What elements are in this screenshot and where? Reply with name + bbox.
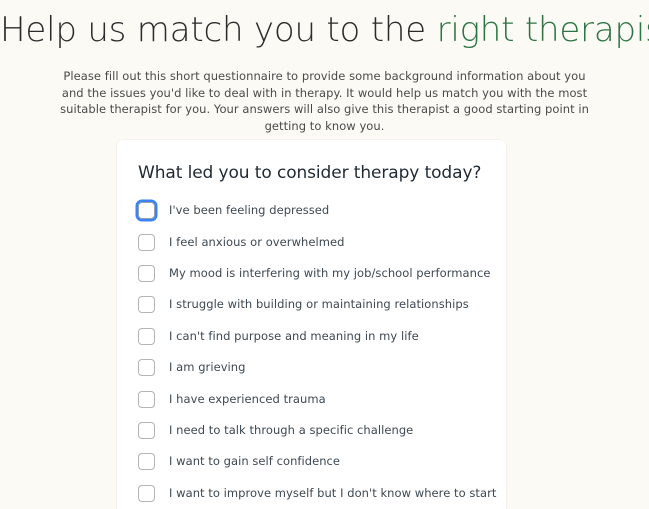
option-label: I want to gain self confidence [169, 454, 340, 469]
checkbox-icon[interactable] [138, 296, 155, 313]
option-label: I need to talk through a specific challe… [169, 423, 413, 438]
option-row[interactable]: My mood is interfering with my job/schoo… [117, 258, 506, 289]
option-row[interactable]: I want to improve myself but I don't kno… [117, 478, 506, 509]
option-label: I have experienced trauma [169, 392, 326, 407]
option-label: I feel anxious or overwhelmed [169, 235, 344, 250]
questionnaire-card: What led you to consider therapy today? … [117, 140, 506, 509]
option-row[interactable]: I can't find purpose and meaning in my l… [117, 321, 506, 352]
checkbox-icon[interactable] [138, 422, 155, 439]
checkbox-icon[interactable] [138, 359, 155, 376]
option-label: I can't find purpose and meaning in my l… [169, 329, 419, 344]
checkbox-icon[interactable] [138, 453, 155, 470]
checkbox-icon[interactable] [138, 265, 155, 282]
checkbox-icon[interactable] [138, 234, 155, 251]
question-heading: What led you to consider therapy today? [117, 140, 506, 184]
option-row[interactable]: I feel anxious or overwhelmed [117, 226, 506, 257]
option-row[interactable]: I have experienced trauma [117, 383, 506, 414]
page-subtitle: Please fill out this short questionnaire… [60, 68, 590, 134]
option-label: I am grieving [169, 360, 246, 375]
page-title-lead: Help us match you to the [0, 10, 437, 50]
checkbox-icon[interactable] [138, 391, 155, 408]
option-label: I've been feeling depressed [169, 203, 329, 218]
option-row[interactable]: I want to gain self confidence [117, 446, 506, 477]
option-label: I want to improve myself but I don't kno… [169, 486, 496, 501]
options-list: I've been feeling depressedI feel anxiou… [117, 195, 506, 509]
checkbox-icon[interactable] [138, 485, 155, 502]
page-title-accent: right therapist [437, 10, 649, 50]
page-title: Help us match you to the right therapist [0, 0, 649, 52]
option-label: My mood is interfering with my job/schoo… [169, 266, 491, 281]
option-row[interactable]: I need to talk through a specific challe… [117, 415, 506, 446]
option-row[interactable]: I struggle with building or maintaining … [117, 289, 506, 320]
checkbox-icon[interactable] [138, 202, 155, 219]
checkbox-icon[interactable] [138, 328, 155, 345]
option-row[interactable]: I am grieving [117, 352, 506, 383]
option-label: I struggle with building or maintaining … [169, 297, 469, 312]
questionnaire-page: Help us match you to the right therapist… [0, 0, 649, 491]
option-row[interactable]: I've been feeling depressed [117, 195, 506, 226]
